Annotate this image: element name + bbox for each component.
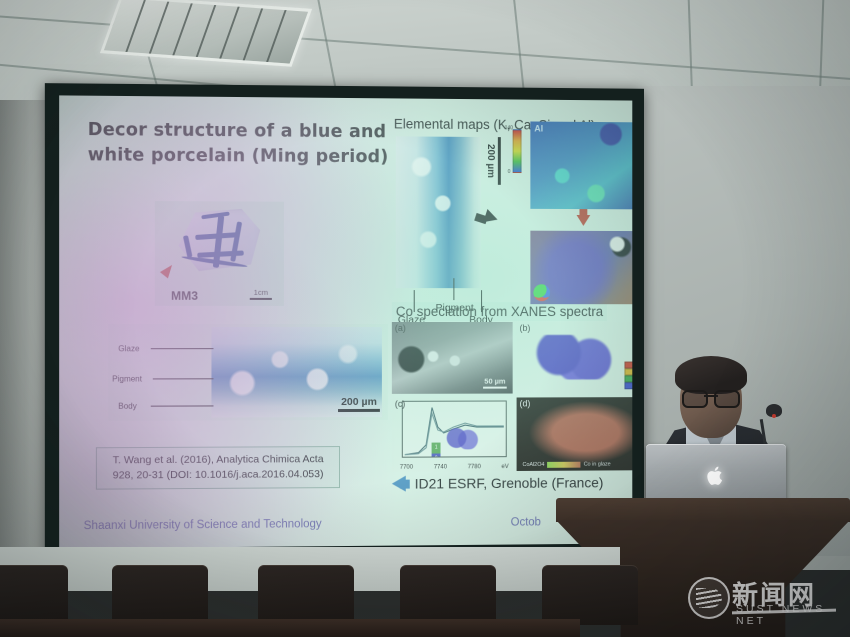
chair <box>258 565 354 625</box>
audience-chairs <box>0 547 560 637</box>
panel-c-tick-1: 7700 <box>400 465 413 471</box>
cross-section-label-body: Body <box>118 402 137 411</box>
colorbar-min-label: 0 <box>508 169 511 175</box>
panel-c-axis-ticks: 7700 7740 7780 eV <box>400 464 509 471</box>
watermark-english-text: SUST NEWS NET <box>736 603 840 627</box>
panel-a-scale-bar: 50 µm <box>483 376 507 388</box>
sample-scale-text: 1cm <box>250 287 272 296</box>
sample-label: MM3 <box>171 289 198 303</box>
podium-top <box>556 498 850 522</box>
panel-a-tag: (a) <box>395 323 406 333</box>
chair <box>400 565 496 625</box>
cross-section-label-glaze: Glaze <box>118 344 139 353</box>
microphone-indicator-light <box>772 414 776 418</box>
laptop[interactable] <box>646 444 786 506</box>
panel-d-legend-left: CoAl2O4 <box>523 462 545 468</box>
slide-title: Decor structure of a blue and white porc… <box>88 118 390 170</box>
panel-b-legend <box>624 362 632 390</box>
footer-institution: Shaanxi University of Science and Techno… <box>84 518 322 532</box>
xanes-panel-d: (d) CoAl2O4 Co in glaze <box>517 397 633 471</box>
panel-c-series-1-swatch: 1 <box>432 442 441 453</box>
ceiling-light-fixture <box>100 0 312 67</box>
chair-rail <box>0 619 580 637</box>
aluminium-map-tag: Al <box>534 123 543 133</box>
elemental-scale-bar: 200 µm <box>485 137 501 185</box>
elemental-scale-text: 200 µm <box>485 144 496 178</box>
panel-b-tag: (b) <box>520 323 531 333</box>
xanes-panel-c: (c) 1 2 7700 7740 7780 eV <box>392 398 513 472</box>
cross-section-scale-bar: 200 µm <box>338 396 380 412</box>
panel-c-inset-map <box>438 427 485 450</box>
panel-c-tick-3: 7780 <box>468 464 481 470</box>
xanes-panel-a: (a) 50 µm <box>392 322 513 394</box>
elemental-colorbar <box>513 129 522 173</box>
rgb-color-wheel-icon <box>533 284 550 301</box>
projection-screen: Decor structure of a blue and white porc… <box>45 83 644 563</box>
citation-box: T. Wang et al. (2016), Analytica Chimica… <box>96 446 340 490</box>
cross-section-scale-text: 200 µm <box>338 396 380 408</box>
aluminium-map-image: Al <box>530 121 632 209</box>
apple-logo-icon <box>706 465 726 487</box>
beamline-callout: ID21 ESRF, Grenoble (France) <box>392 474 604 491</box>
chair <box>0 565 68 625</box>
red-down-arrow-icon <box>577 215 591 226</box>
xanes-panel-group: (a) 50 µm (b) <box>392 322 632 472</box>
watermark-logo-icon <box>688 577 730 619</box>
panel-d-tag: (d) <box>520 398 531 408</box>
panel-c-axis-unit: eV <box>501 464 508 470</box>
panel-c-tick-2: 7740 <box>434 464 447 470</box>
panel-d-legend-right: Co in glaze <box>584 462 611 468</box>
colorbar-max-label: 140 <box>505 125 513 131</box>
sample-scale-bar: 1cm <box>250 287 272 300</box>
cross-section-label-pigment: Pigment <box>112 374 142 383</box>
panel-a-scale-text: 50 µm <box>483 376 507 385</box>
chair <box>112 565 208 625</box>
rgb-composite-map-image <box>530 231 632 305</box>
xanes-panel-b: (b) <box>517 322 633 394</box>
sample-photo-panel: MM3 1cm <box>155 201 284 306</box>
elemental-label-pigment: Pigment <box>436 302 474 314</box>
footer-date: Octob <box>511 516 541 528</box>
chair <box>542 565 638 625</box>
beamline-label: ID21 ESRF, Grenoble (France) <box>415 474 604 491</box>
panel-c-series-2-swatch: 2 <box>432 453 441 458</box>
slide-footer: Shaanxi University of Science and Techno… <box>59 516 632 541</box>
porcelain-shard-image <box>171 207 264 274</box>
watermark: 新闻网 SUST NEWS NET <box>688 571 840 629</box>
panel-d-legend: CoAl2O4 Co in glaze <box>523 462 611 468</box>
conference-photo: Decor structure of a blue and white porc… <box>0 0 850 637</box>
cross-section-panel: Glaze Pigment Body 200 µm <box>108 324 388 421</box>
glasses-icon <box>682 390 740 404</box>
presenter-hair <box>675 356 747 394</box>
xanes-spectrum-plot: 1 2 <box>402 401 507 458</box>
panel-c-tag: (c) <box>395 399 405 409</box>
presentation-slide: Decor structure of a blue and white porc… <box>59 95 632 548</box>
elemental-cross-section-image <box>396 136 481 288</box>
